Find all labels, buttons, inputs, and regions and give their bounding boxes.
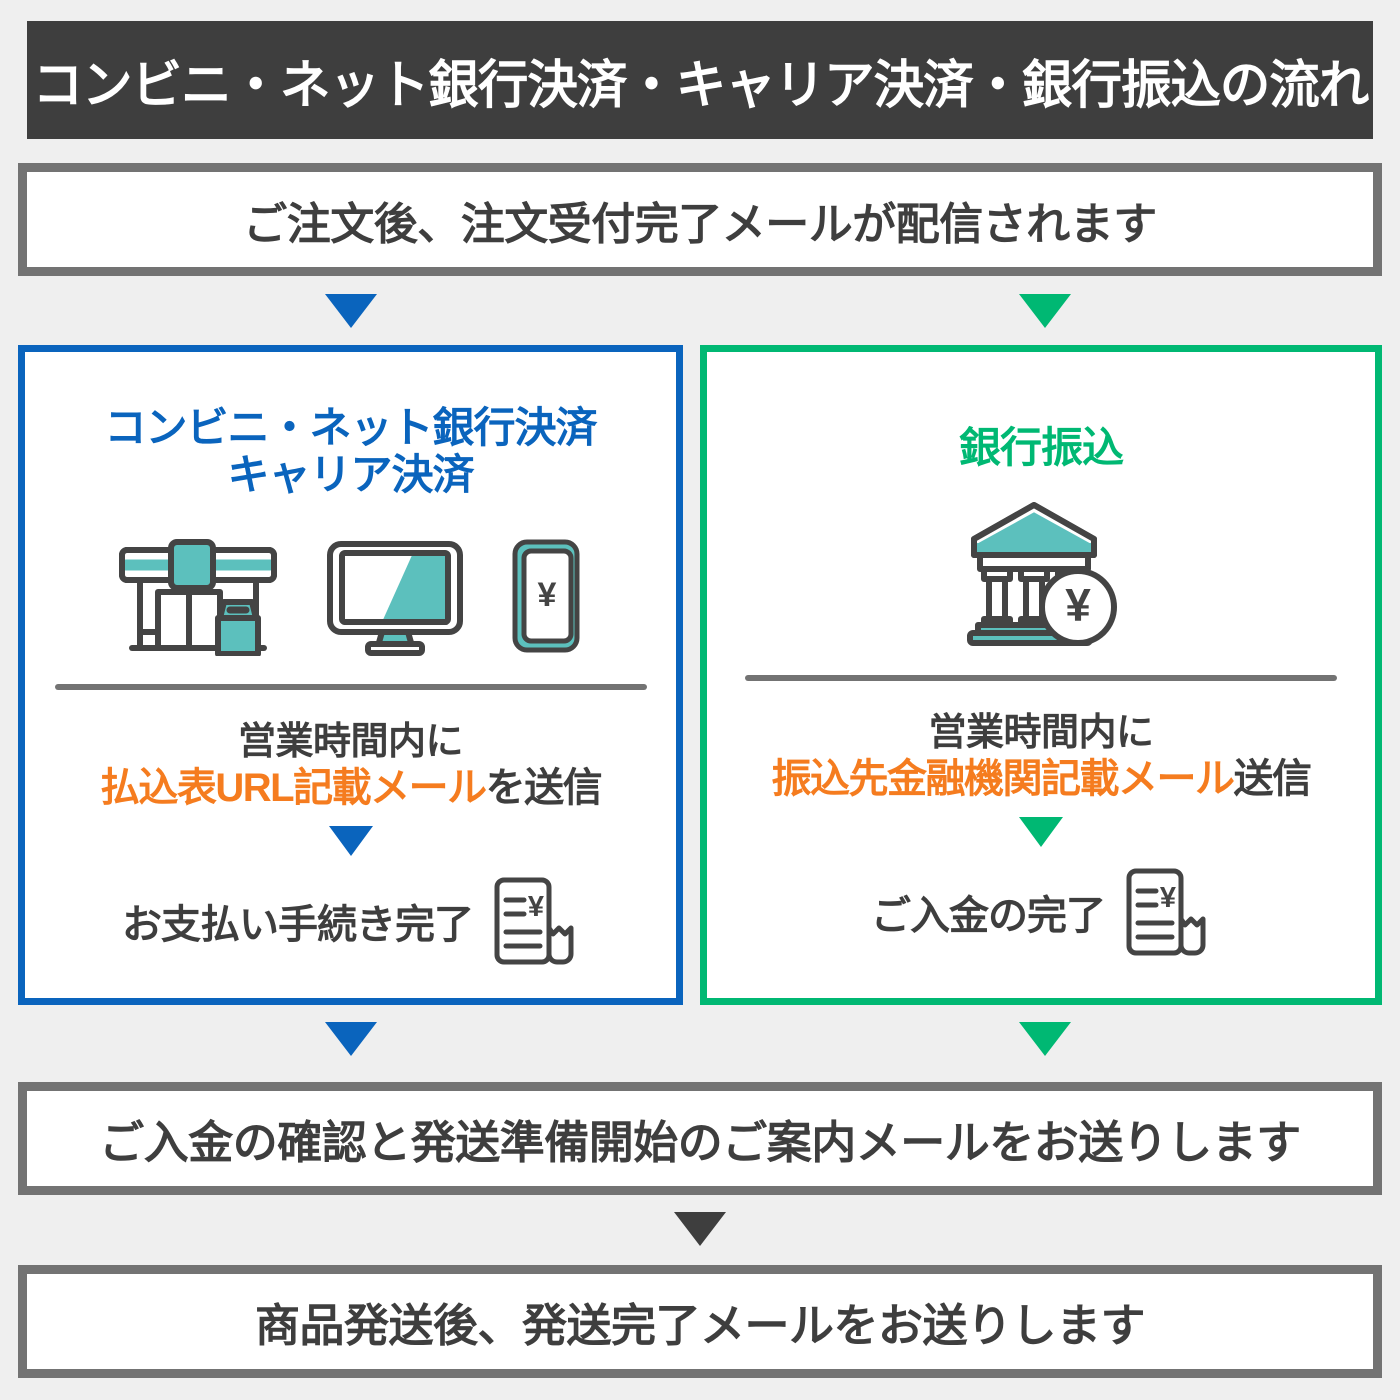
panel-furikomi-final: ご入金の完了 ¥	[707, 863, 1375, 961]
panel-furikomi-sub-line2: 振込先金融機関記載メール送信	[707, 756, 1375, 803]
panel-konbini-divider	[55, 684, 647, 690]
down-arrow-green-inner	[1019, 817, 1063, 847]
panel-konbini-final-label: お支払い手続き完了	[122, 892, 473, 950]
panel-furikomi-heading-line1: 銀行振込	[707, 424, 1375, 471]
flow-diagram: コンビニ・ネット銀行決済・キャリア決済・銀行振込の流れ ご注文後、注文受付完了メ…	[0, 0, 1400, 1400]
down-arrow-dark	[674, 1212, 726, 1246]
panel-furikomi-heading: 銀行振込	[707, 424, 1375, 471]
step-payment-confirmed-text: ご入金の確認と発送準備開始のご案内メールをお送りします	[99, 1106, 1301, 1171]
step-shipped: 商品発送後、発送完了メールをお送りします	[18, 1265, 1382, 1378]
svg-text:¥: ¥	[1160, 882, 1176, 914]
svg-text:¥: ¥	[1065, 579, 1091, 631]
panel-konbini-icons: ¥	[25, 526, 676, 656]
monitor-icon	[320, 534, 470, 656]
panel-furikomi-sub-line1: 営業時間内に	[707, 711, 1375, 756]
panel-furikomi-icons: ¥	[707, 489, 1375, 649]
step-shipped-text: 商品発送後、発送完了メールをお送りします	[255, 1289, 1145, 1354]
panel-furikomi-arrow-wrap	[707, 817, 1375, 851]
down-arrow-blue-top	[325, 294, 377, 328]
page-title-text: コンビニ・ネット銀行決済・キャリア決済・銀行振込の流れ	[32, 43, 1368, 118]
svg-text:¥: ¥	[528, 891, 544, 923]
panel-furikomi: 銀行振込	[700, 345, 1382, 1005]
down-arrow-green-bottom	[1019, 1022, 1071, 1056]
panel-furikomi-final-label: ご入金の完了	[871, 883, 1105, 941]
panel-konbini-sub-line2: 払込表URL記載メールを送信	[25, 765, 676, 812]
panel-furikomi-sub-tail: 送信	[1234, 757, 1311, 801]
panel-furikomi-subtext: 営業時間内に 振込先金融機関記載メール送信	[707, 711, 1375, 803]
convenience-store-icon	[114, 536, 284, 656]
svg-text:¥: ¥	[537, 576, 556, 614]
receipt-yen-icon: ¥	[1119, 863, 1211, 961]
receipt-yen-icon: ¥	[487, 872, 579, 970]
panel-konbini: コンビニ・ネット銀行決済 キャリア決済	[18, 345, 683, 1005]
panel-konbini-heading-line2: キャリア決済	[25, 451, 676, 498]
panel-konbini-heading-line1: コンビニ・ネット銀行決済	[25, 404, 676, 451]
panel-konbini-heading: コンビニ・ネット銀行決済 キャリア決済	[25, 404, 676, 498]
panel-konbini-sub-tail: を送信	[486, 766, 602, 810]
smartphone-yen-icon: ¥	[506, 534, 588, 656]
down-arrow-blue-bottom	[325, 1022, 377, 1056]
panel-konbini-sub-highlight: 払込表URL記載メール	[100, 766, 486, 810]
step-payment-confirmed: ご入金の確認と発送準備開始のご案内メールをお送りします	[18, 1082, 1382, 1195]
bank-yen-icon: ¥	[958, 497, 1124, 649]
panel-konbini-arrow-wrap	[25, 826, 676, 860]
panel-furikomi-sub-highlight: 振込先金融機関記載メール	[772, 757, 1234, 801]
panel-konbini-sub-line1: 営業時間内に	[25, 720, 676, 765]
step-order-received-text: ご注文後、注文受付完了メールが配信されます	[243, 188, 1157, 252]
step-order-received: ご注文後、注文受付完了メールが配信されます	[18, 163, 1382, 276]
panel-furikomi-divider	[745, 675, 1337, 681]
panel-konbini-subtext: 営業時間内に 払込表URL記載メールを送信	[25, 720, 676, 812]
down-arrow-green-top	[1019, 294, 1071, 328]
down-arrow-blue-inner	[329, 826, 373, 856]
page-title: コンビニ・ネット銀行決済・キャリア決済・銀行振込の流れ	[27, 21, 1373, 139]
panel-konbini-final: お支払い手続き完了 ¥	[25, 872, 676, 970]
